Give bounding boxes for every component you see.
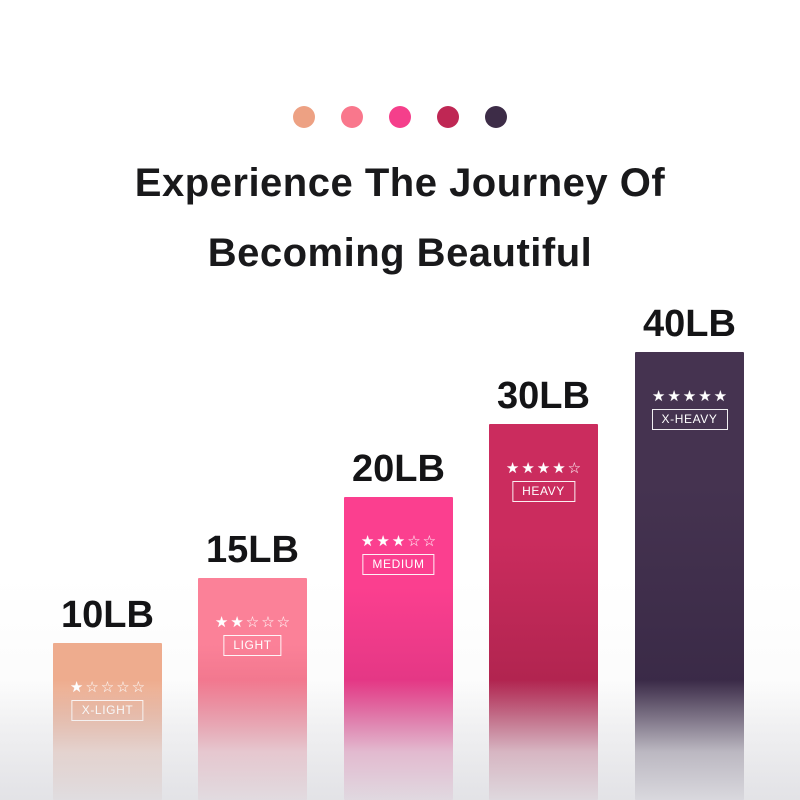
star-empty-icon: ☆ <box>116 680 129 695</box>
bar-badge-x-heavy: ★★★★★X-HEAVY <box>652 389 728 430</box>
star-filled-icon: ★ <box>652 389 665 404</box>
star-empty-icon: ☆ <box>132 680 145 695</box>
bar-group-30lb: 30LB★★★★☆HEAVY <box>489 424 598 800</box>
star-filled-icon: ★ <box>537 461 550 476</box>
bar-value-label-20lb: 20LB <box>352 447 445 491</box>
bar-group-40lb: 40LB★★★★★X-HEAVY <box>635 352 744 800</box>
star-filled-icon: ★ <box>376 534 389 549</box>
bar-group-20lb: 20LB★★★☆☆MEDIUM <box>344 497 453 800</box>
tier-label-x-heavy: X-HEAVY <box>652 409 728 430</box>
star-filled-icon: ★ <box>552 461 565 476</box>
tier-label-medium: MEDIUM <box>362 554 434 575</box>
tier-label-light: LIGHT <box>223 635 281 656</box>
bar-badge-x-light: ★☆☆☆☆X-LIGHT <box>70 680 145 721</box>
star-filled-icon: ★ <box>698 389 711 404</box>
star-rating: ★★★★★ <box>652 389 727 404</box>
bar-15lb[interactable] <box>198 578 307 800</box>
star-filled-icon: ★ <box>714 389 727 404</box>
bar-value-label-30lb: 30LB <box>497 374 590 418</box>
bar-value-label-10lb: 10LB <box>61 593 154 637</box>
bar-10lb[interactable] <box>53 643 162 800</box>
bar-value-label-15lb: 15LB <box>206 528 299 572</box>
star-empty-icon: ☆ <box>246 615 259 630</box>
star-filled-icon: ★ <box>215 615 228 630</box>
star-empty-icon: ☆ <box>407 534 420 549</box>
star-empty-icon: ☆ <box>423 534 436 549</box>
star-filled-icon: ★ <box>361 534 374 549</box>
bar-group-15lb: 15LB★★☆☆☆LIGHT <box>198 578 307 800</box>
bar-group-10lb: 10LB★☆☆☆☆X-LIGHT <box>53 643 162 800</box>
bar-badge-heavy: ★★★★☆HEAVY <box>506 461 581 502</box>
star-filled-icon: ★ <box>506 461 519 476</box>
bar-value-label-40lb: 40LB <box>643 302 736 346</box>
tier-label-x-light: X-LIGHT <box>72 700 144 721</box>
star-filled-icon: ★ <box>230 615 243 630</box>
resistance-bar-chart: 10LB★☆☆☆☆X-LIGHT15LB★★☆☆☆LIGHT20LB★★★☆☆M… <box>0 0 800 800</box>
star-filled-icon: ★ <box>683 389 696 404</box>
star-filled-icon: ★ <box>667 389 680 404</box>
star-rating: ★★☆☆☆ <box>215 615 290 630</box>
promo-banner: Experience The Journey Of Becoming Beaut… <box>0 0 800 800</box>
star-filled-icon: ★ <box>392 534 405 549</box>
star-rating: ★★★★☆ <box>506 461 581 476</box>
tier-label-heavy: HEAVY <box>512 481 575 502</box>
star-filled-icon: ★ <box>70 680 83 695</box>
bar-badge-light: ★★☆☆☆LIGHT <box>215 615 290 656</box>
star-empty-icon: ☆ <box>101 680 114 695</box>
star-empty-icon: ☆ <box>261 615 274 630</box>
star-filled-icon: ★ <box>521 461 534 476</box>
star-rating: ★☆☆☆☆ <box>70 680 145 695</box>
star-empty-icon: ☆ <box>85 680 98 695</box>
star-rating: ★★★☆☆ <box>361 534 436 549</box>
bar-badge-medium: ★★★☆☆MEDIUM <box>361 534 436 575</box>
star-empty-icon: ☆ <box>277 615 290 630</box>
star-empty-icon: ☆ <box>568 461 581 476</box>
